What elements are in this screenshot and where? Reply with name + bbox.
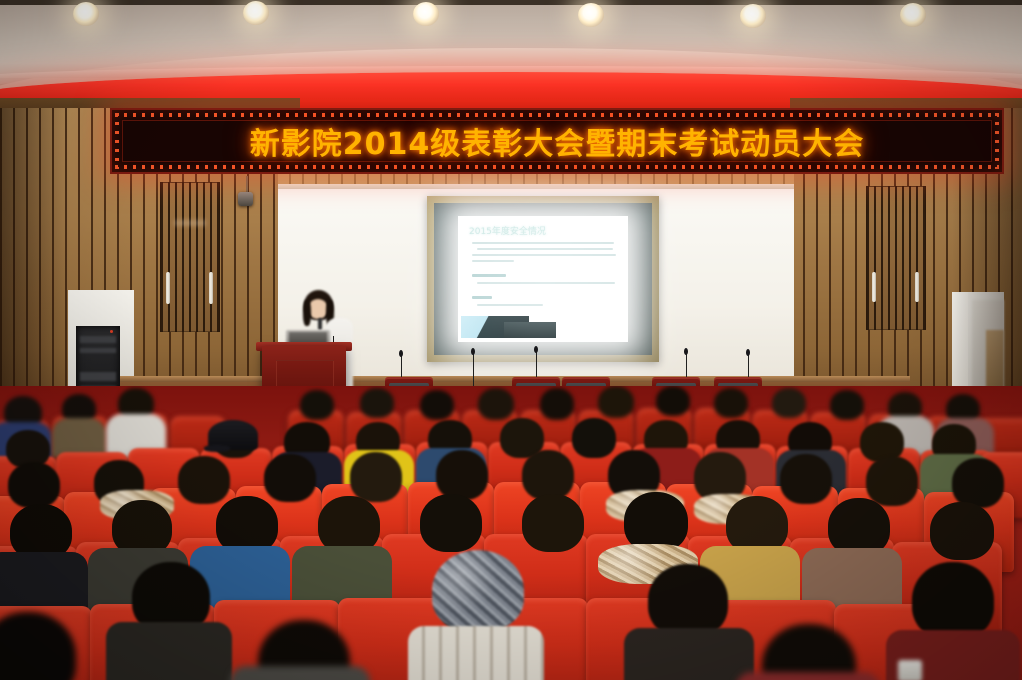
- rack-unit: [80, 372, 116, 381]
- rack-led: [110, 330, 113, 333]
- downlight: [740, 4, 766, 28]
- door-left-handle[interactable]: [209, 272, 213, 304]
- audience-head: [478, 388, 514, 420]
- projection-screen-frame: 2015年度安全情况: [427, 196, 659, 362]
- door-right-handle[interactable]: [915, 272, 919, 302]
- audience-head: [772, 388, 806, 418]
- door-left-handle[interactable]: [166, 272, 170, 304]
- slide-image-secondary: [504, 322, 556, 338]
- microphone-head: [684, 348, 688, 355]
- audience-head: [930, 502, 994, 560]
- led-banner-text: 新影院2014级表彰大会暨期末考试动员大会: [250, 119, 865, 163]
- audience-head: [178, 456, 230, 504]
- audience-head: [350, 452, 402, 502]
- downlight: [413, 2, 439, 26]
- door-right[interactable]: [866, 186, 926, 330]
- audience-head: [264, 454, 316, 502]
- downlight: [243, 1, 269, 25]
- audience-head: [912, 562, 994, 640]
- audience-head: [780, 454, 832, 504]
- microphone-head: [399, 350, 403, 357]
- slide-section-heading: [472, 296, 492, 299]
- audience-head: [360, 388, 394, 418]
- audience-head: [648, 564, 728, 638]
- audience-head: [8, 462, 60, 508]
- knit-beanie: [432, 550, 524, 630]
- slide-text-line: [477, 248, 613, 250]
- audience-body: [230, 666, 370, 680]
- audience-head: [436, 450, 488, 500]
- microphone-head: [746, 349, 750, 356]
- door-left-sign: [174, 220, 206, 226]
- water-cup: [898, 660, 922, 680]
- audience-head: [572, 418, 616, 458]
- slide-text-line: [477, 304, 543, 306]
- led-banner: 新影院2014级表彰大会暨期末考试动员大会: [110, 108, 1004, 174]
- audience-head: [656, 386, 690, 416]
- audience-head: [522, 450, 574, 500]
- audience-head: [866, 456, 918, 506]
- audience-head: [598, 386, 634, 418]
- presentation-slide: 2015年度安全情况: [458, 216, 628, 342]
- microphone-icon: [318, 318, 322, 330]
- audience-body: [408, 626, 544, 680]
- audience-head: [420, 494, 482, 552]
- baseball-cap: [208, 420, 258, 450]
- cap-brim: [204, 445, 230, 452]
- audience-body: [624, 628, 754, 680]
- door-right-handle[interactable]: [872, 272, 876, 302]
- slide-section-heading: [472, 274, 506, 277]
- speaker-face: [308, 299, 328, 319]
- downlight: [73, 2, 99, 26]
- audience-head: [420, 390, 454, 420]
- slide-title: 2015年度安全情况: [469, 224, 546, 237]
- audience-head: [952, 458, 1004, 508]
- projection-screen-mat: 2015年度安全情况: [434, 203, 652, 355]
- speaker-hair-left: [303, 300, 311, 326]
- audience-head: [300, 390, 334, 420]
- microphone-stand: [473, 352, 474, 388]
- slide-text-line: [472, 260, 514, 262]
- audience-head: [830, 390, 864, 420]
- audience-area: [0, 386, 1022, 680]
- slide-text-line: [472, 254, 616, 256]
- audience-body: [736, 672, 880, 680]
- door-left[interactable]: [160, 182, 220, 332]
- slide-text-line: [477, 282, 615, 284]
- rack-unit: [80, 348, 116, 353]
- downlight: [900, 3, 926, 27]
- audience-head: [522, 494, 584, 552]
- microphone-head: [471, 348, 475, 355]
- ceiling-edge-shadow: [0, 0, 1022, 5]
- downlight: [578, 3, 604, 27]
- audience-head: [540, 388, 574, 420]
- audience-head: [624, 492, 688, 552]
- audience-head: [714, 388, 748, 418]
- stage-wall-trim-lower: [278, 184, 794, 189]
- slide-text-line: [472, 242, 614, 244]
- led-banner-inner: 新影院2014级表彰大会暨期末考试动员大会: [122, 120, 992, 162]
- audience-body: [106, 622, 232, 680]
- rack-unit: [80, 336, 116, 343]
- wall-left-shading: [0, 108, 70, 428]
- speaker-icon: [238, 192, 253, 206]
- microphone-head: [534, 346, 538, 353]
- auditorium-photo: 2015年度安全情况 新影院2014级表彰大会暨期末考试动员大会: [0, 0, 1022, 680]
